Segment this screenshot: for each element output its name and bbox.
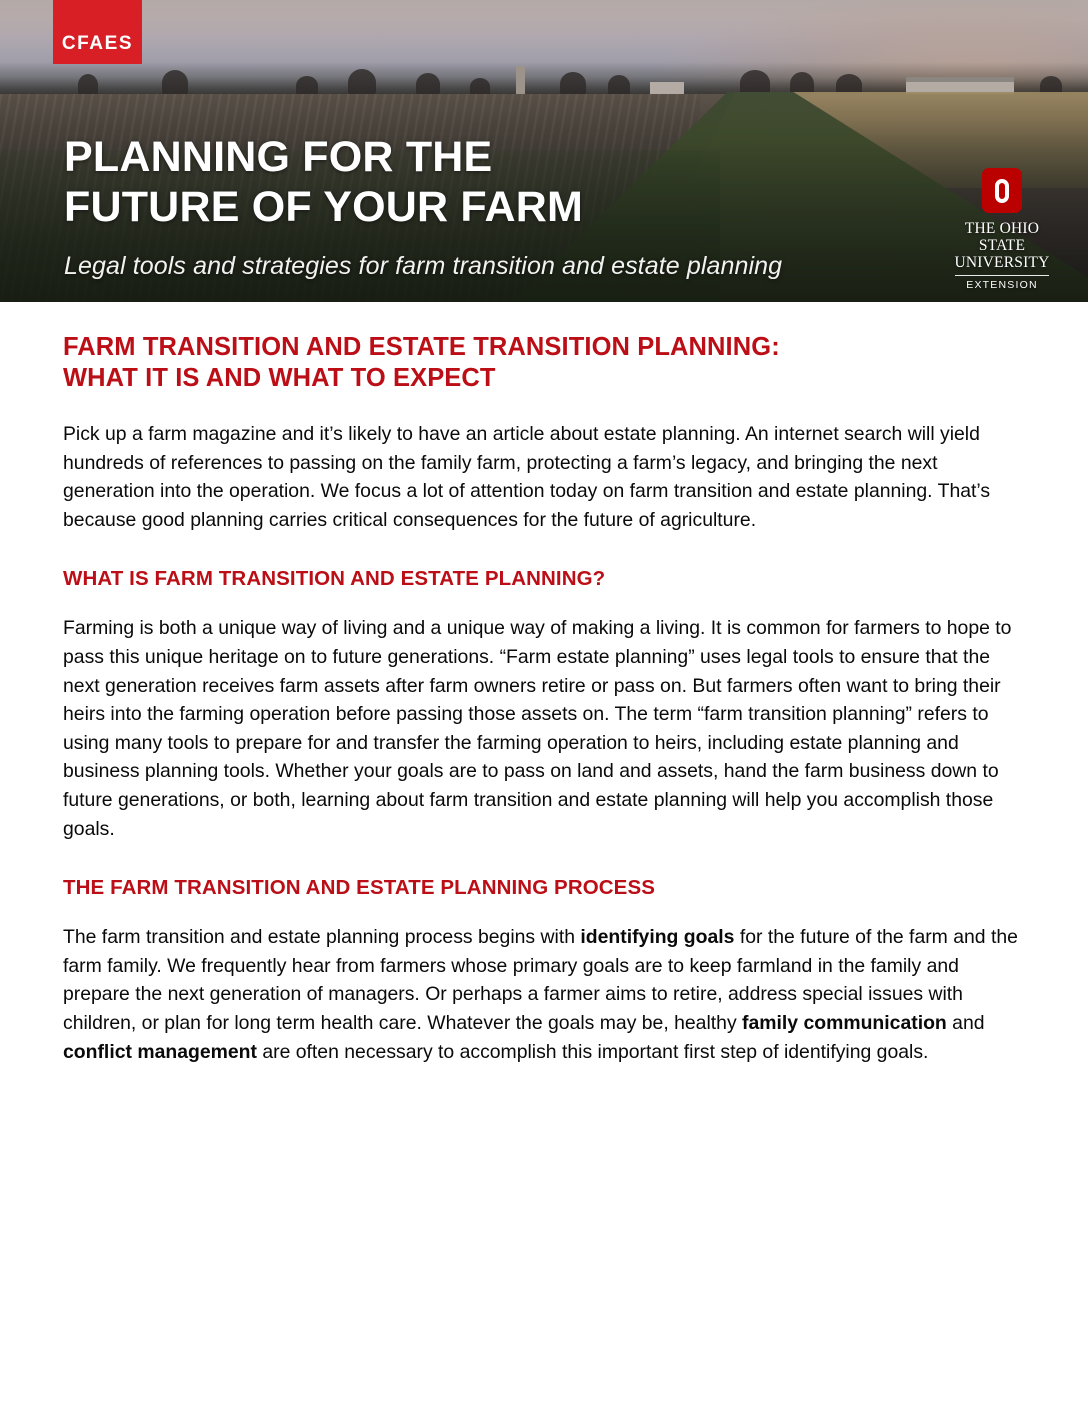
- osu-name-line-1: THE OHIO STATE: [944, 220, 1060, 254]
- section-paragraph-1: Farming is both a unique way of living a…: [63, 614, 1031, 843]
- intro-paragraph: Pick up a farm magazine and it’s likely …: [63, 420, 1031, 534]
- page-title-line-2: WHAT IT IS AND WHAT TO EXPECT: [63, 363, 1033, 394]
- banner-title: PLANNING FOR THE FUTURE OF YOUR FARM: [64, 132, 583, 232]
- banner-title-line-2: FUTURE OF YOUR FARM: [64, 182, 583, 232]
- osu-name-line-2: UNIVERSITY: [944, 254, 1060, 271]
- page-title: FARM TRANSITION AND ESTATE TRANSITION PL…: [63, 332, 1033, 394]
- section-heading-2: THE FARM TRANSITION AND ESTATE PLANNING …: [63, 875, 1033, 901]
- page-title-line-1: FARM TRANSITION AND ESTATE TRANSITION PL…: [63, 332, 1033, 363]
- osu-unit-label: EXTENSION: [944, 279, 1060, 291]
- banner-subtitle: Legal tools and strategies for farm tran…: [64, 252, 782, 281]
- page-banner: CFAES PLANNING FOR THE FUTURE OF YOUR FA…: [0, 0, 1088, 302]
- document-content: FARM TRANSITION AND ESTATE TRANSITION PL…: [0, 302, 1088, 1066]
- section-paragraph-2: The farm transition and estate planning …: [63, 923, 1031, 1066]
- osu-block-o-inner: [995, 179, 1009, 203]
- section-heading-1: WHAT IS FARM TRANSITION AND ESTATE PLANN…: [63, 566, 1033, 592]
- cfaes-logo-text: CFAES: [62, 33, 133, 55]
- osu-block-o-icon: [982, 168, 1022, 213]
- osu-extension-logo: THE OHIO STATE UNIVERSITY EXTENSION: [944, 168, 1060, 291]
- osu-name: THE OHIO STATE UNIVERSITY: [944, 220, 1060, 271]
- banner-title-line-1: PLANNING FOR THE: [64, 132, 583, 182]
- osu-divider: [955, 275, 1049, 276]
- cfaes-logo: CFAES: [53, 0, 142, 64]
